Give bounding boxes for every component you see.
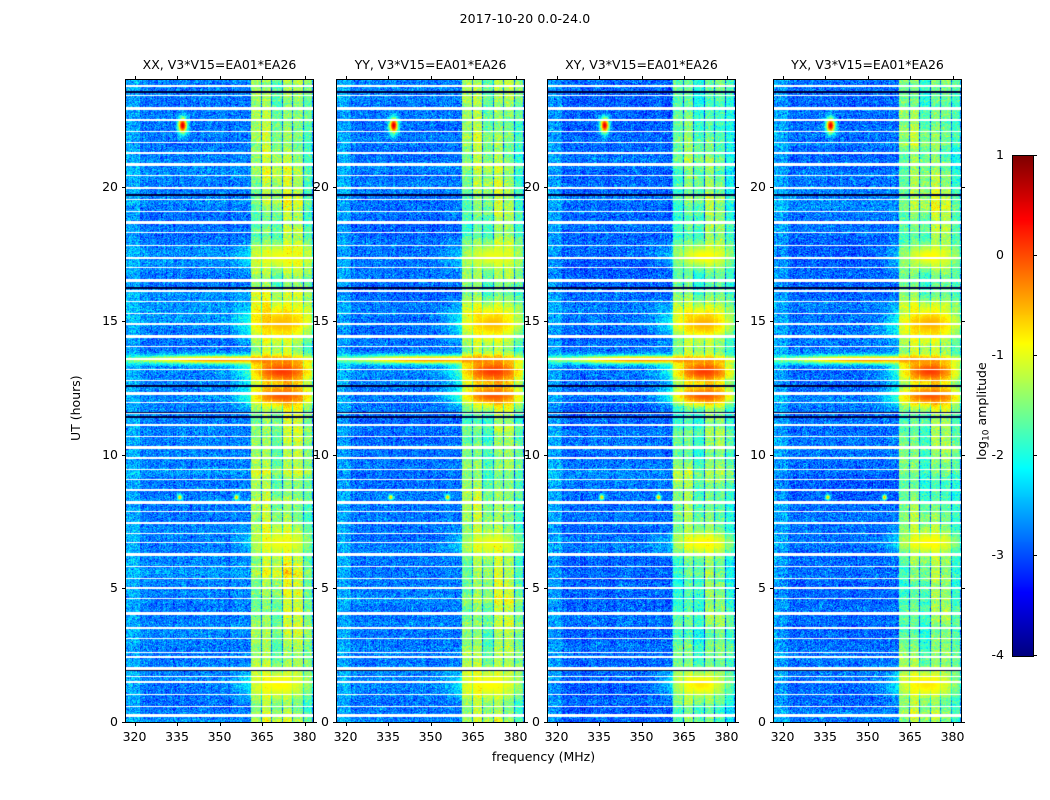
- x-tick-top-xx-4: [305, 76, 306, 80]
- y-ticklabel-xx-1: 5: [80, 580, 118, 595]
- y-tick-right-yx-1: [961, 588, 965, 589]
- y-ticklabel-xy-2: 10: [502, 447, 540, 462]
- x-tick-top-yx-3: [910, 76, 911, 80]
- x-tick-xy-0: [557, 722, 558, 726]
- spectrum-panel-xy: [547, 79, 736, 723]
- colorbar-tick-1: [1033, 555, 1037, 556]
- y-ticklabel-xy-4: 20: [502, 179, 540, 194]
- panel-title-yy: YY, V3*V15=EA01*EA26: [337, 57, 524, 72]
- x-tick-xy-2: [642, 722, 643, 726]
- x-tick-yy-1: [388, 722, 389, 726]
- x-tick-yx-2: [868, 722, 869, 726]
- y-tick-right-yx-3: [961, 321, 965, 322]
- x-tick-top-yx-2: [868, 76, 869, 80]
- figure-root: 2017-10-20 0.0-24.0 XX, V3*V15=EA01*EA26…: [0, 0, 1050, 800]
- x-tick-yy-3: [473, 722, 474, 726]
- y-tick-xx-1: [122, 588, 126, 589]
- colorbar-label: log10 amplitude: [974, 362, 991, 460]
- x-tick-top-yy-2: [431, 76, 432, 80]
- colorbar-gradient: [1013, 156, 1033, 656]
- x-tick-xy-1: [599, 722, 600, 726]
- colorbar-ticklabel-4: 0: [968, 247, 1004, 262]
- y-tick-yy-3: [333, 321, 337, 322]
- x-tick-top-xy-4: [727, 76, 728, 80]
- x-tick-top-xy-3: [684, 76, 685, 80]
- x-tick-top-xx-0: [135, 76, 136, 80]
- colorbar-ticklabel-2: -2: [968, 447, 1004, 462]
- colorbar-tick-5: [1033, 155, 1037, 156]
- colorbar-ticklabel-0: -4: [968, 647, 1004, 662]
- y-tick-xx-2: [122, 455, 126, 456]
- colorbar: [1012, 155, 1034, 657]
- y-tick-xx-4: [122, 187, 126, 188]
- x-tick-xy-3: [684, 722, 685, 726]
- colorbar-tick-2: [1033, 455, 1037, 456]
- panel-title-yx: YX, V3*V15=EA01*EA26: [774, 57, 961, 72]
- y-ticklabel-xx-3: 15: [80, 313, 118, 328]
- x-ticklabel-xy-4: 380: [702, 729, 752, 744]
- x-tick-xx-0: [135, 722, 136, 726]
- y-tick-xx-0: [122, 722, 126, 723]
- x-tick-yx-0: [783, 722, 784, 726]
- y-ticklabel-yx-3: 15: [728, 313, 766, 328]
- y-ticklabel-yx-2: 10: [728, 447, 766, 462]
- y-ticklabel-yx-0: 0: [728, 714, 766, 729]
- y-tick-yx-4: [770, 187, 774, 188]
- y-ticklabel-xx-4: 20: [80, 179, 118, 194]
- figure-suptitle: 2017-10-20 0.0-24.0: [0, 11, 1050, 26]
- x-axis-label: frequency (MHz): [0, 749, 1050, 764]
- spectrum-image-yx: [774, 80, 961, 722]
- y-tick-right-yx-2: [961, 455, 965, 456]
- y-tick-yx-2: [770, 455, 774, 456]
- x-tick-top-xx-3: [262, 76, 263, 80]
- y-ticklabel-xy-3: 15: [502, 313, 540, 328]
- x-tick-top-yx-0: [783, 76, 784, 80]
- panel-title-xy: XY, V3*V15=EA01*EA26: [548, 57, 735, 72]
- y-tick-xy-1: [544, 588, 548, 589]
- y-tick-yx-3: [770, 321, 774, 322]
- x-tick-top-yy-0: [346, 76, 347, 80]
- spectrum-panel-xx: [125, 79, 314, 723]
- colorbar-ticklabel-3: -1: [968, 347, 1004, 362]
- x-tick-top-xy-1: [599, 76, 600, 80]
- y-ticklabel-yx-4: 20: [728, 179, 766, 194]
- x-tick-top-xy-0: [557, 76, 558, 80]
- y-tick-xx-3: [122, 321, 126, 322]
- y-ticklabel-yy-2: 10: [291, 447, 329, 462]
- y-ticklabel-yy-3: 15: [291, 313, 329, 328]
- panel-title-xx: XX, V3*V15=EA01*EA26: [126, 57, 313, 72]
- y-tick-xy-2: [544, 455, 548, 456]
- x-tick-yx-1: [825, 722, 826, 726]
- y-tick-yy-4: [333, 187, 337, 188]
- y-tick-yx-0: [770, 722, 774, 723]
- y-tick-xy-3: [544, 321, 548, 322]
- y-ticklabel-yy-0: 0: [291, 714, 329, 729]
- x-tick-top-yy-1: [388, 76, 389, 80]
- x-tick-xx-3: [262, 722, 263, 726]
- x-tick-xx-1: [177, 722, 178, 726]
- x-ticklabel-yx-4: 380: [928, 729, 978, 744]
- x-tick-top-yy-3: [473, 76, 474, 80]
- spectrum-panel-yy: [336, 79, 525, 723]
- y-axis-label: UT (hours): [68, 375, 83, 441]
- x-tick-yy-0: [346, 722, 347, 726]
- y-ticklabel-xy-0: 0: [502, 714, 540, 729]
- x-tick-xx-2: [220, 722, 221, 726]
- x-tick-top-xx-2: [220, 76, 221, 80]
- y-tick-right-yx-4: [961, 187, 965, 188]
- y-ticklabel-yx-1: 5: [728, 580, 766, 595]
- y-ticklabel-xx-2: 10: [80, 447, 118, 462]
- y-ticklabel-yy-1: 5: [291, 580, 329, 595]
- x-tick-yx-3: [910, 722, 911, 726]
- colorbar-tick-3: [1033, 355, 1037, 356]
- x-tick-yy-2: [431, 722, 432, 726]
- colorbar-ticklabel-5: 1: [968, 147, 1004, 162]
- spectrum-image-xy: [548, 80, 735, 722]
- x-tick-top-xx-1: [177, 76, 178, 80]
- x-tick-top-yy-4: [516, 76, 517, 80]
- x-tick-top-xy-2: [642, 76, 643, 80]
- y-ticklabel-yy-4: 20: [291, 179, 329, 194]
- y-tick-yy-0: [333, 722, 337, 723]
- y-tick-yy-2: [333, 455, 337, 456]
- colorbar-tick-4: [1033, 255, 1037, 256]
- spectrum-image-xx: [126, 80, 313, 722]
- y-tick-right-yx-0: [961, 722, 965, 723]
- x-tick-top-yx-1: [825, 76, 826, 80]
- y-tick-yy-1: [333, 588, 337, 589]
- y-ticklabel-xx-0: 0: [80, 714, 118, 729]
- spectrum-panel-yx: [773, 79, 962, 723]
- y-tick-yx-1: [770, 588, 774, 589]
- spectrum-image-yy: [337, 80, 524, 722]
- x-tick-yx-4: [953, 722, 954, 726]
- y-tick-xy-4: [544, 187, 548, 188]
- colorbar-ticklabel-1: -3: [968, 547, 1004, 562]
- x-tick-top-yx-4: [953, 76, 954, 80]
- y-tick-xy-0: [544, 722, 548, 723]
- colorbar-tick-0: [1033, 655, 1037, 656]
- y-ticklabel-xy-1: 5: [502, 580, 540, 595]
